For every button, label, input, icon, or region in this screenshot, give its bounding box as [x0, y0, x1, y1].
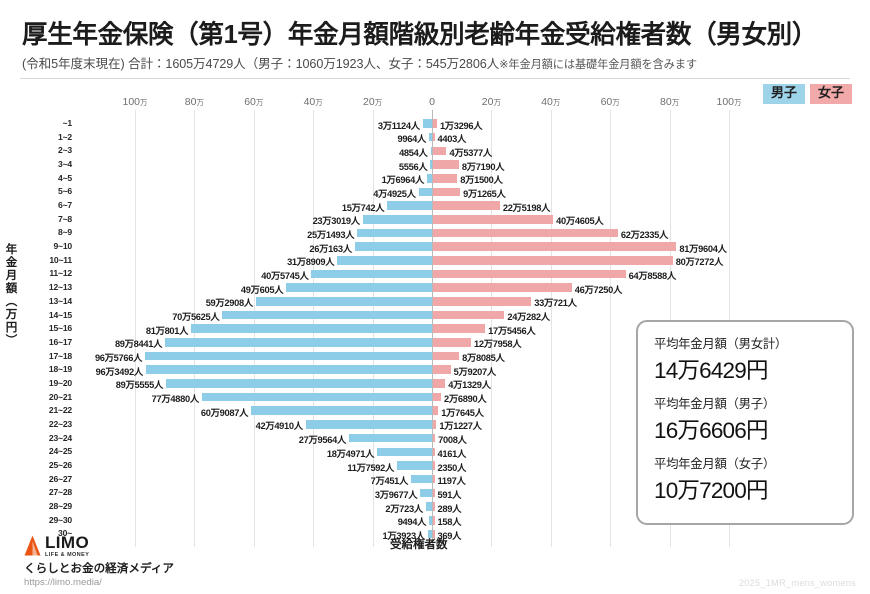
- bar-label-male: 96万5766人: [95, 350, 142, 364]
- bar-label-female: 5万9207人: [454, 364, 496, 378]
- bar-female: [433, 461, 435, 470]
- bar-male: [166, 379, 432, 388]
- bar-male: [430, 160, 432, 169]
- bar-male: [311, 270, 432, 279]
- bar-label-female: 2万6890人: [444, 391, 486, 405]
- bar-label-male: 4854人: [399, 145, 427, 159]
- bar-label-male: 31万8909人: [287, 254, 334, 268]
- row-category-label: 5~6: [0, 186, 72, 196]
- bar-male: [191, 324, 432, 333]
- row-category-label: 25~26: [0, 460, 72, 470]
- bar-label-female: 22万5198人: [503, 200, 550, 214]
- bar-label-male: 26万163人: [309, 241, 351, 255]
- chart-row: 13~1459万2908人33万721人: [0, 295, 870, 309]
- bar-label-female: 1万1227人: [439, 418, 481, 432]
- row-category-label: 19~20: [0, 378, 72, 388]
- bar-male: [431, 147, 432, 156]
- bar-label-male: 59万2908人: [206, 295, 253, 309]
- bar-label-female: 17万5456人: [488, 323, 535, 337]
- x-axis-tick: 0: [429, 96, 435, 108]
- bar-label-female: 24万282人: [507, 309, 549, 323]
- bar-label-male: 77万4880人: [152, 391, 199, 405]
- bar-male: [165, 338, 432, 347]
- site-url[interactable]: https://limo.media/: [24, 577, 102, 588]
- chart-row: 6~715万742人22万5198人: [0, 199, 870, 213]
- stat-male-label: 平均年金月額（男子）: [654, 394, 852, 412]
- bar-label-male: 15万742人: [342, 200, 384, 214]
- stat-total: 平均年金月額（男女計） 14万6429円: [638, 334, 852, 385]
- bar-label-male: 60万9087人: [201, 405, 248, 419]
- row-category-label: 6~7: [0, 200, 72, 210]
- bar-label-male: 9494人: [398, 514, 426, 528]
- bar-female: [433, 502, 435, 511]
- bar-male: [357, 229, 432, 238]
- bar-female: [433, 338, 471, 347]
- chart-row: 9~1026万163人81万9604人: [0, 240, 870, 254]
- bar-female: [433, 174, 457, 183]
- bar-label-female: 81万9604人: [679, 241, 726, 255]
- bar-label-female: 4403人: [438, 131, 466, 145]
- bar-label-male: 5556人: [399, 159, 427, 173]
- bar-female: [433, 516, 435, 525]
- bar-label-male: 3万9677人: [375, 487, 417, 501]
- bar-label-female: 1万3296人: [440, 118, 482, 132]
- bar-label-male: 70万5625人: [172, 309, 219, 323]
- row-category-label: 7~8: [0, 214, 72, 224]
- chart-row: 12~1349万605人46万7250人: [0, 281, 870, 295]
- chart-page: 厚生年金保険（第1号）年金月額階級別老齢年金受給権者数（男女別） (令和5年度末…: [0, 0, 870, 594]
- bar-label-female: 4161人: [438, 446, 466, 460]
- x-axis-tick: 20万: [363, 96, 382, 108]
- bar-female: [433, 352, 459, 361]
- bar-male: [426, 502, 432, 511]
- row-category-label: 18~19: [0, 364, 72, 374]
- bar-female: [433, 215, 553, 224]
- row-category-label: 29~30: [0, 515, 72, 525]
- bar-male: [146, 365, 432, 374]
- bar-female: [433, 283, 572, 292]
- bar-female: [433, 147, 446, 156]
- bar-label-male: 7万451人: [371, 473, 408, 487]
- bar-male: [286, 283, 432, 292]
- stat-female-value: 10万7200円: [654, 473, 852, 505]
- bar-male: [377, 448, 432, 457]
- bar-label-male: 18万4971人: [327, 446, 374, 460]
- bar-male: [145, 352, 432, 361]
- row-category-label: 24~25: [0, 446, 72, 456]
- x-axis-tick: 100万: [716, 96, 741, 108]
- bar-label-female: 12万7958人: [474, 336, 521, 350]
- bar-label-female: 8万8085人: [462, 350, 504, 364]
- bar-female: [433, 297, 531, 306]
- flame-icon: [24, 535, 41, 556]
- site-tagline: くらしとお金の経済メディア: [24, 560, 174, 576]
- bar-label-male: 42万4910人: [256, 418, 303, 432]
- bar-label-male: 23万3019人: [313, 213, 360, 227]
- bar-male: [427, 174, 432, 183]
- chart-row: 2~34854人4万5377人: [0, 144, 870, 158]
- bar-label-male: 27万9564人: [299, 432, 346, 446]
- bar-label-female: 33万721人: [534, 295, 576, 309]
- bar-female: [433, 475, 435, 484]
- y-axis-title: 年金月額（万円）: [4, 243, 16, 347]
- x-axis-tick: 60万: [244, 96, 263, 108]
- bar-label-female: 4万1329人: [448, 377, 490, 391]
- stat-total-label: 平均年金月額（男女計）: [654, 334, 852, 352]
- bar-female: [433, 324, 485, 333]
- stat-male: 平均年金月額（男子） 16万6606円: [638, 394, 852, 445]
- bar-label-female: 4万5377人: [449, 145, 491, 159]
- bar-label-male: 81万801人: [146, 323, 188, 337]
- bar-male: [222, 311, 432, 320]
- bar-male: [306, 420, 432, 429]
- row-category-label: 26~27: [0, 474, 72, 484]
- bar-female: [433, 119, 437, 128]
- bar-male: [337, 256, 432, 265]
- bar-female: [433, 434, 435, 443]
- bar-female: [433, 270, 626, 279]
- bar-label-female: 1万7645人: [441, 405, 483, 419]
- x-axis-title: 受給権者数: [390, 536, 448, 552]
- bar-label-female: 9万1265人: [463, 186, 505, 200]
- row-category-label: 27~28: [0, 487, 72, 497]
- bar-label-female: 62万2335人: [621, 227, 668, 241]
- bar-label-male: 9964人: [398, 131, 426, 145]
- bar-female: [433, 406, 438, 415]
- bar-male: [429, 133, 432, 142]
- bar-female: [433, 311, 504, 320]
- bar-female: [433, 448, 435, 457]
- stat-total-value: 14万6429円: [654, 353, 852, 385]
- limo-name: LIMO: [45, 534, 89, 551]
- bar-male: [251, 406, 432, 415]
- bar-female: [433, 393, 441, 402]
- x-axis-tick: 80万: [185, 96, 204, 108]
- bar-female: [433, 242, 676, 251]
- bar-label-female: 64万8588人: [629, 268, 676, 282]
- bar-label-female: 1197人: [438, 473, 466, 487]
- bar-label-female: 8万1500人: [460, 172, 502, 186]
- row-category-label: 3~4: [0, 159, 72, 169]
- bar-male: [256, 297, 432, 306]
- bar-female: [433, 365, 451, 374]
- bar-male: [397, 461, 432, 470]
- row-category-label: 21~22: [0, 405, 72, 415]
- row-category-label: ~1: [0, 118, 72, 128]
- chart-row: 8~925万1493人62万2335人: [0, 226, 870, 240]
- bar-label-male: 96万3492人: [96, 364, 143, 378]
- row-category-label: 22~23: [0, 419, 72, 429]
- bar-label-male: 4万4925人: [373, 186, 415, 200]
- stat-male-value: 16万6606円: [654, 413, 852, 445]
- x-axis-tick: 40万: [304, 96, 323, 108]
- row-category-label: 28~29: [0, 501, 72, 511]
- bar-male: [387, 201, 432, 210]
- bar-label-male: 2万723人: [385, 501, 422, 515]
- bar-male: [363, 215, 432, 224]
- bar-female: [433, 379, 445, 388]
- row-category-label: 17~18: [0, 351, 72, 361]
- stat-female: 平均年金月額（女子） 10万7200円: [638, 454, 852, 505]
- summary-stats-box: 平均年金月額（男女計） 14万6429円 平均年金月額（男子） 16万6606円…: [636, 320, 854, 525]
- bar-male: [429, 516, 432, 525]
- bar-label-female: 591人: [438, 487, 462, 501]
- bar-female: [433, 160, 459, 169]
- bar-label-male: 11万7592人: [347, 460, 394, 474]
- chart-row: 5~64万4925人9万1265人: [0, 185, 870, 199]
- row-category-label: 20~21: [0, 392, 72, 402]
- limo-wordmark: LIMO LIFE & MONEY: [45, 534, 89, 558]
- bar-male: [355, 242, 432, 251]
- row-category-label: 2~3: [0, 145, 72, 155]
- stat-female-label: 平均年金月額（女子）: [654, 454, 852, 472]
- bar-label-female: 289人: [438, 501, 462, 515]
- limo-sub: LIFE & MONEY: [45, 553, 89, 558]
- bar-male: [423, 119, 432, 128]
- bar-label-male: 49万605人: [241, 282, 283, 296]
- bar-female: [433, 229, 618, 238]
- bar-male: [419, 188, 432, 197]
- bar-label-female: 2350人: [438, 460, 466, 474]
- watermark: 2025_1MR_mens_womens: [739, 578, 856, 588]
- chart-row: 1~29964人4403人: [0, 131, 870, 145]
- bar-label-female: 8万7190人: [462, 159, 504, 173]
- x-axis-tick: 80万: [660, 96, 679, 108]
- bar-label-male: 89万8441人: [115, 336, 162, 350]
- chart-row: 7~823万3019人40万4605人: [0, 213, 870, 227]
- limo-logo: LIMO LIFE & MONEY: [24, 534, 89, 558]
- bar-female: [433, 256, 673, 265]
- bar-male: [420, 489, 432, 498]
- row-category-label: 4~5: [0, 173, 72, 183]
- row-category-label: 23~24: [0, 433, 72, 443]
- bar-female: [433, 201, 500, 210]
- row-category-label: 8~9: [0, 227, 72, 237]
- bar-label-female: 40万4605人: [556, 213, 603, 227]
- bar-female: [433, 489, 435, 498]
- x-axis-tick: 40万: [541, 96, 560, 108]
- bar-label-female: 7008人: [438, 432, 466, 446]
- bar-female: [433, 188, 460, 197]
- bar-male: [411, 475, 432, 484]
- chart-row: 11~1240万5745人64万8588人: [0, 267, 870, 281]
- x-axis-tick: 100万: [122, 96, 147, 108]
- bar-female: [433, 420, 436, 429]
- bar-label-male: 89万5555人: [116, 377, 163, 391]
- row-category-label: 1~2: [0, 132, 72, 142]
- x-axis-tick: 20万: [482, 96, 501, 108]
- bar-label-female: 46万7250人: [575, 282, 622, 296]
- bar-label-male: 3万1124人: [378, 118, 420, 132]
- bar-male: [349, 434, 432, 443]
- chart-row: ~13万1124人1万3296人: [0, 117, 870, 131]
- bar-female: [433, 133, 435, 142]
- bar-label-female: 80万7272人: [676, 254, 723, 268]
- x-axis-tick: 60万: [601, 96, 620, 108]
- bar-label-female: 158人: [438, 514, 462, 528]
- bar-label-male: 40万5745人: [261, 268, 308, 282]
- bar-label-male: 25万1493人: [307, 227, 354, 241]
- bar-male: [202, 393, 432, 402]
- chart-row: 4~51万6964人8万1500人: [0, 172, 870, 186]
- chart-row: 3~45556人8万7190人: [0, 158, 870, 172]
- bar-label-male: 1万6964人: [382, 172, 424, 186]
- chart-row: 10~1131万8909人80万7272人: [0, 254, 870, 268]
